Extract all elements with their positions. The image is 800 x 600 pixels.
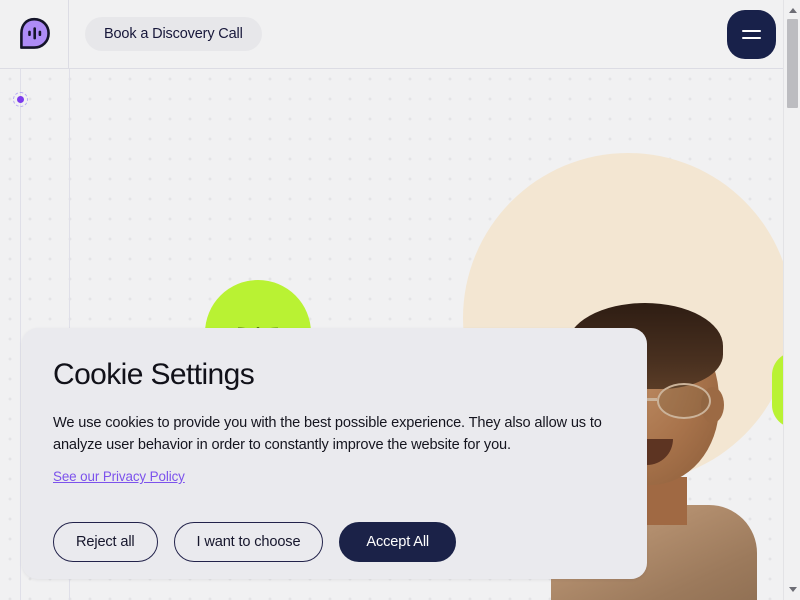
accept-all-button[interactable]: Accept All xyxy=(339,522,456,562)
i-want-to-choose-button[interactable]: I want to choose xyxy=(174,522,324,562)
vertical-scrollbar[interactable] xyxy=(783,0,800,600)
scroll-down-arrow-icon[interactable] xyxy=(784,581,800,598)
reject-all-button[interactable]: Reject all xyxy=(53,522,158,562)
site-header: Book a Discovery Call xyxy=(0,0,793,69)
hamburger-menu-icon[interactable] xyxy=(727,10,776,59)
scroll-up-arrow-icon[interactable] xyxy=(784,2,800,19)
purple-dot-marker-icon xyxy=(13,92,28,107)
header-content: Book a Discovery Call xyxy=(69,0,793,69)
logo[interactable] xyxy=(0,0,69,69)
scrollbar-thumb[interactable] xyxy=(787,19,798,108)
cookie-settings-dialog: Cookie Settings We use cookies to provid… xyxy=(22,328,647,579)
page-title: Cookie Settings xyxy=(53,360,617,390)
speech-bubble-waveform-logo-icon xyxy=(18,17,51,52)
cookie-description: We use cookies to provide you with the b… xyxy=(53,412,617,456)
grid-rail-left xyxy=(20,69,21,600)
cookie-actions: Reject all I want to choose Accept All xyxy=(53,522,617,562)
book-discovery-call-button[interactable]: Book a Discovery Call xyxy=(85,17,262,51)
page-root: Online Our team is ready to assist you B… xyxy=(0,0,800,600)
privacy-policy-link[interactable]: See our Privacy Policy xyxy=(53,469,185,484)
